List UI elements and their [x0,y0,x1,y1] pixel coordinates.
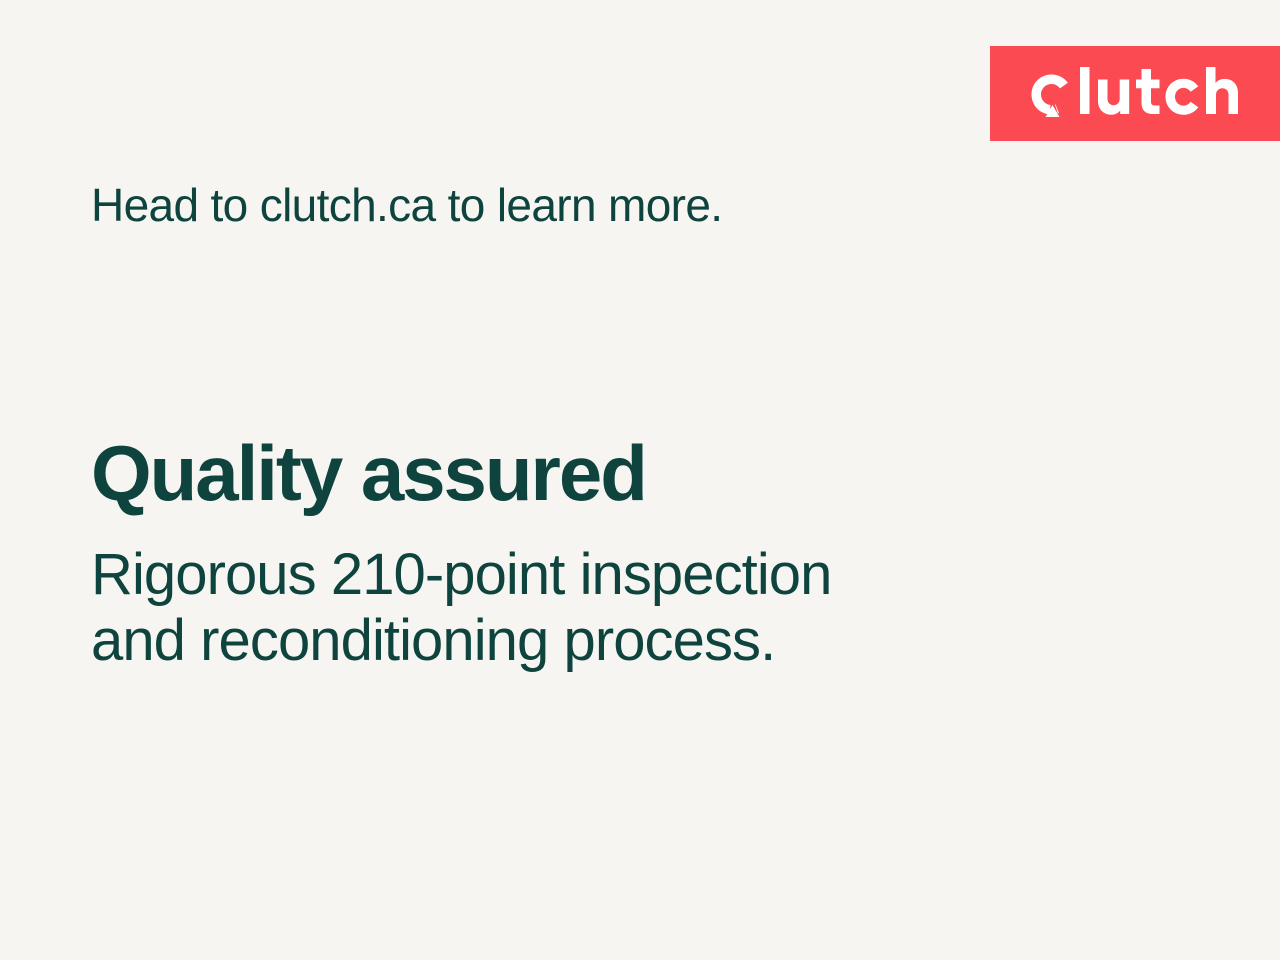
clutch-wordmark-svg [1022,65,1254,123]
promo-slide: Head to clutch.ca to learn more. Quality… [0,0,1280,960]
subheading-block: Rigorous 210-point inspection and recond… [91,542,831,673]
clutch-wordmark-logo [1022,64,1254,124]
subheading-line-2: and reconditioning process. [91,608,831,674]
clutch-brand-badge [990,46,1280,141]
tagline-text: Head to clutch.ca to learn more. [91,180,722,232]
page-title: Quality assured [91,433,646,514]
clutch-c-wedge-icon [1032,74,1068,114]
subheading-line-1: Rigorous 210-point inspection [91,542,831,608]
